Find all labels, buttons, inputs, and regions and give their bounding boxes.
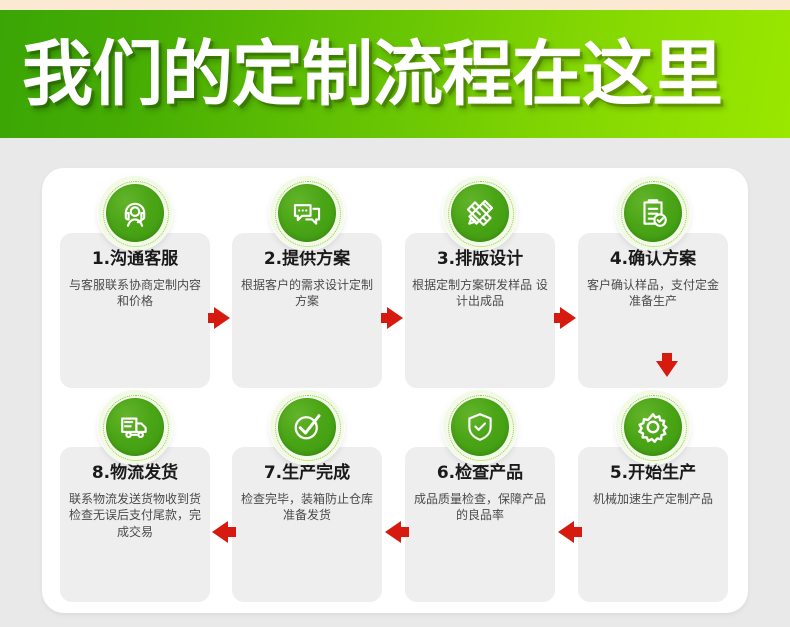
step-card-text: 4.确认方案 客户确认样品，支付定金 准备生产	[578, 250, 728, 310]
delivery-truck-icon	[98, 390, 172, 464]
top-decorative-strip	[0, 0, 790, 10]
arrow-right-icon	[214, 307, 230, 329]
step-title: 2.提供方案	[236, 250, 378, 270]
step-card-6[interactable]: 6.检查产品 成品质量检查，保障产品的良品率	[405, 390, 555, 602]
icon-disc	[451, 398, 509, 456]
step-card-1[interactable]: 1.沟通客服 与客服联系协商定制内容和价格	[60, 176, 210, 388]
check-circle-icon	[270, 390, 344, 464]
step-card-text: 7.生产完成 检查完毕，装箱防止仓库准备发货	[232, 464, 382, 524]
step-title: 4.确认方案	[582, 250, 724, 270]
process-steps-grid: 1.沟通客服 与客服联系协商定制内容和价格	[42, 168, 748, 613]
icon-disc	[451, 184, 509, 242]
icon-disc	[624, 184, 682, 242]
step-card-text: 3.排版设计 根据定制方案研发样品 设计出成品	[405, 250, 555, 310]
step-title: 6.检查产品	[409, 464, 551, 484]
step-title: 1.沟通客服	[64, 250, 206, 270]
icon-disc	[106, 184, 164, 242]
step-description: 与客服联系协商定制内容和价格	[64, 277, 206, 310]
pencil-ruler-icon	[443, 176, 517, 250]
headset-support-icon	[98, 176, 172, 250]
step-card-text: 6.检查产品 成品质量检查，保障产品的良品率	[405, 464, 555, 524]
steps-row-bottom: 8.物流发货 联系物流发送货物收到货 检查无误后支付尾款，完成交易 7.生产完成…	[42, 390, 748, 602]
step-card-5[interactable]: 5.开始生产 机械加速生产定制产品	[578, 390, 728, 602]
step-description: 根据客户的需求设计定制方案	[236, 277, 378, 310]
step-card-text: 8.物流发货 联系物流发送货物收到货 检查无误后支付尾款，完成交易	[60, 464, 210, 540]
arrow-left-icon	[212, 521, 228, 543]
steps-row-top: 1.沟通客服 与客服联系协商定制内容和价格	[42, 176, 748, 388]
step-title: 7.生产完成	[236, 464, 378, 484]
arrow-down-icon	[656, 361, 678, 377]
icon-disc	[106, 398, 164, 456]
page-title: 我们的定制流程在这里	[22, 39, 722, 110]
shield-check-icon	[443, 390, 517, 464]
step-card-4[interactable]: 4.确认方案 客户确认样品，支付定金 准备生产	[578, 176, 728, 388]
icon-disc	[278, 398, 336, 456]
arrow-right-icon	[387, 307, 403, 329]
arrow-left-icon	[385, 521, 401, 543]
step-card-8[interactable]: 8.物流发货 联系物流发送货物收到货 检查无误后支付尾款，完成交易	[60, 390, 210, 602]
chat-bubbles-icon	[270, 176, 344, 250]
step-description: 成品质量检查，保障产品的良品率	[409, 491, 551, 524]
step-title: 8.物流发货	[64, 464, 206, 484]
icon-disc	[624, 398, 682, 456]
step-description: 机械加速生产定制产品	[582, 491, 724, 508]
arrow-left-icon	[558, 521, 574, 543]
step-title: 5.开始生产	[582, 464, 724, 484]
step-card-text: 2.提供方案 根据客户的需求设计定制方案	[232, 250, 382, 310]
step-description: 检查完毕，装箱防止仓库准备发货	[236, 491, 378, 524]
step-card-7[interactable]: 7.生产完成 检查完毕，装箱防止仓库准备发货	[232, 390, 382, 602]
clipboard-check-icon	[616, 176, 690, 250]
step-card-text: 5.开始生产 机械加速生产定制产品	[578, 464, 728, 507]
step-title: 3.排版设计	[409, 250, 551, 270]
step-description: 客户确认样品，支付定金 准备生产	[582, 277, 724, 310]
header-banner: 我们的定制流程在这里	[0, 10, 790, 138]
step-card-text: 1.沟通客服 与客服联系协商定制内容和价格	[60, 250, 210, 310]
arrow-right-icon	[560, 307, 576, 329]
icon-disc	[278, 184, 336, 242]
step-card-3[interactable]: 3.排版设计 根据定制方案研发样品 设计出成品	[405, 176, 555, 388]
step-description: 联系物流发送货物收到货 检查无误后支付尾款，完成交易	[64, 491, 206, 541]
step-card-2[interactable]: 2.提供方案 根据客户的需求设计定制方案	[232, 176, 382, 388]
step-description: 根据定制方案研发样品 设计出成品	[409, 277, 551, 310]
gear-icon	[616, 390, 690, 464]
